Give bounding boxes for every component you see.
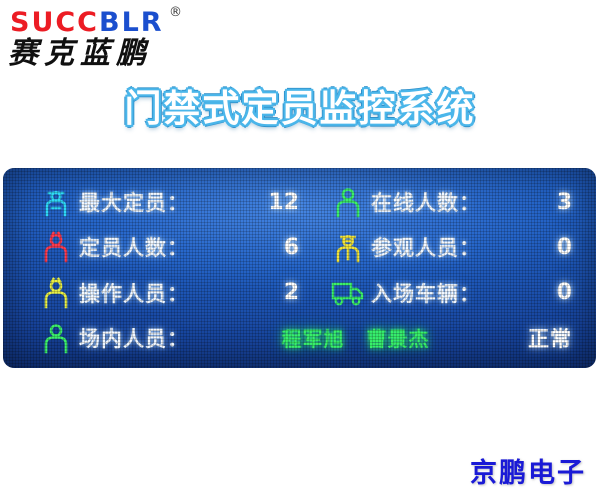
led-value: 6 xyxy=(237,235,309,260)
led-row: 操作人员： 2 入场车辆： 0 xyxy=(17,273,582,313)
led-cell-online-count: 在线人数： 3 xyxy=(309,182,582,222)
led-value: 3 xyxy=(510,190,582,215)
led-display-panel: 最大定员： 12 在线人数： 3 xyxy=(3,168,596,368)
led-row: 定员人数： 6 参观人员： 0 xyxy=(17,227,582,267)
led-cell-vehicles: 入场车辆： 0 xyxy=(309,273,582,313)
onsite-names: 程军旭 曹景杰 xyxy=(258,323,461,352)
led-label: 操作人员： xyxy=(79,278,237,308)
logo-latin-blue: BLR xyxy=(99,7,164,38)
person-yellow-icon xyxy=(39,276,73,310)
person-cyan-icon xyxy=(39,185,73,219)
led-row: 最大定员： 12 在线人数： 3 xyxy=(17,182,582,222)
footer-company-name: 京鹏电子 xyxy=(470,451,586,490)
led-label: 参观人员： xyxy=(371,232,510,262)
logo-latin-red: SUCC xyxy=(10,7,99,38)
led-value: 0 xyxy=(510,280,582,305)
led-cell-max-capacity: 最大定员： 12 xyxy=(17,182,309,222)
person-red-icon xyxy=(39,230,73,264)
logo-latin-text: SUCCBLR xyxy=(10,9,164,36)
led-label: 场内人员： xyxy=(79,323,258,353)
visitor-yellow-icon xyxy=(331,230,365,264)
registered-trademark-icon: ® xyxy=(169,6,182,19)
led-value: 0 xyxy=(510,235,582,260)
status-badge: 正常 xyxy=(460,323,582,353)
led-label: 入场车辆： xyxy=(371,278,510,308)
logo-chinese-text: 赛克蓝鹏 xyxy=(8,38,152,70)
truck-green-icon xyxy=(331,276,365,310)
onsite-name: 程军旭 xyxy=(282,323,345,352)
led-value: 12 xyxy=(237,190,309,215)
onsite-name: 曹景杰 xyxy=(367,323,430,352)
person-green-icon xyxy=(331,185,365,219)
led-label: 定员人数： xyxy=(79,232,237,262)
person-green-icon xyxy=(39,321,73,355)
led-value: 2 xyxy=(237,280,309,305)
led-cell-visitors: 参观人员： 0 xyxy=(309,227,582,267)
led-label: 在线人数： xyxy=(371,187,510,217)
led-cell-operators: 操作人员： 2 xyxy=(17,273,309,313)
company-logo: SUCCBLR ® 赛克蓝鹏 xyxy=(8,6,238,72)
led-label: 最大定员： xyxy=(79,187,237,217)
page-title: 门禁式定员监控系统 xyxy=(0,88,600,131)
led-row-onsite: 场内人员： 程军旭 曹景杰 正常 xyxy=(17,318,582,358)
led-rows-container: 最大定员： 12 在线人数： 3 xyxy=(3,168,596,368)
led-cell-staff-quota: 定员人数： 6 xyxy=(17,227,309,267)
